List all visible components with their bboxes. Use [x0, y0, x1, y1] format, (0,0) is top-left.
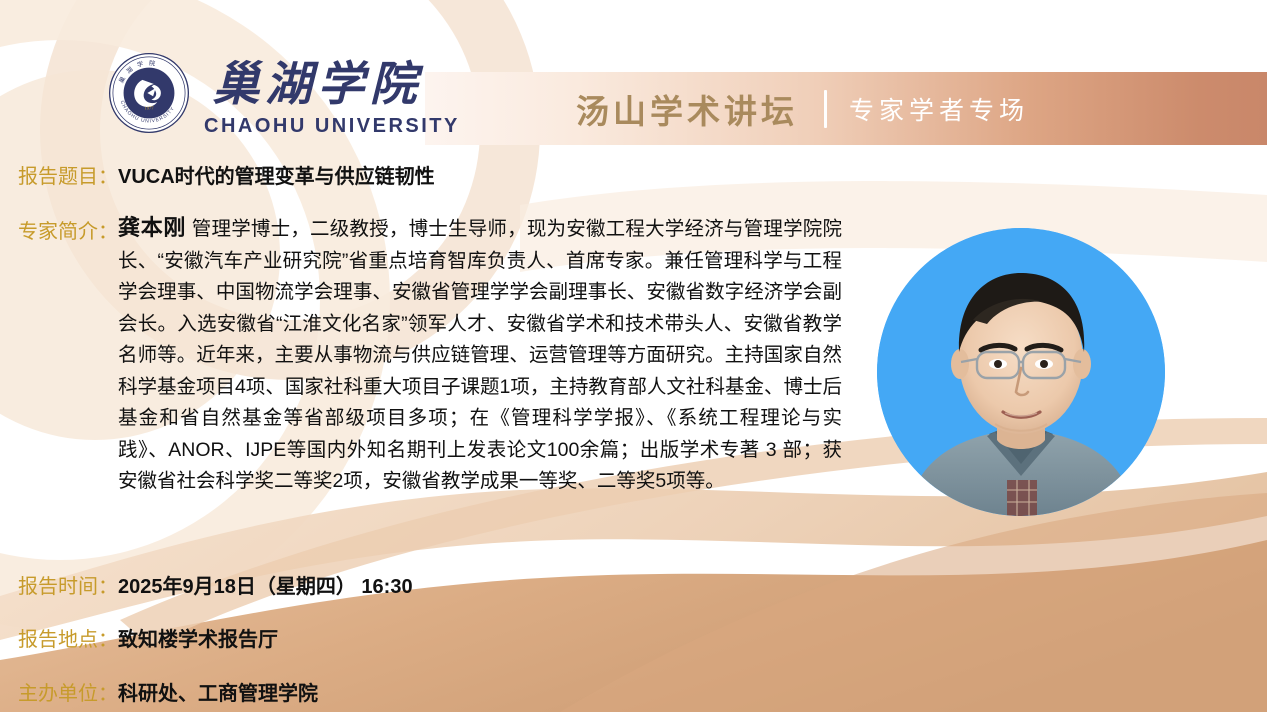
report-time-row: 报告时间： 2025年9月18日（星期四） 16:30: [18, 570, 413, 599]
banner-title: 汤山学术讲坛: [576, 85, 798, 133]
report-time-value: 2025年9月18日（星期四） 16:30: [118, 570, 413, 599]
university-name-cn: 巢湖学院: [204, 55, 474, 113]
university-name-en: CHAOHU UNIVERSITY: [204, 115, 460, 138]
report-place-value: 致知楼学术报告厅: [118, 623, 278, 652]
report-title-row: 报告题目： VUCA时代的管理变革与供应链韧性: [18, 160, 435, 189]
university-seal-icon: 1977 巢 湖 学 院 CHAOHU UNIVERSITY: [108, 52, 190, 134]
speaker-bio-text: 管理学博士，二级教授，博士生导师，现为安徽工程大学经济与管理学院院长、“安徽汽车…: [118, 218, 842, 492]
report-host-label: 主办单位：: [18, 677, 118, 706]
banner-subtitle: 专家学者专场: [849, 91, 1029, 127]
speaker-name: 龚本刚: [118, 215, 186, 240]
speaker-portrait-image: [877, 228, 1165, 516]
report-title-label: 报告题目：: [18, 160, 118, 189]
university-logo: 1977 巢 湖 学 院 CHAOHU UNIVERSITY 巢湖学院 CHAO…: [108, 52, 474, 138]
svg-text:巢湖学院: 巢湖学院: [213, 59, 424, 111]
report-place-label: 报告地点：: [18, 623, 118, 652]
seal-year: 1977: [145, 105, 155, 110]
speaker-bio-body: 龚本刚 管理学博士，二级教授，博士生导师，现为安徽工程大学经济与管理学院院长、“…: [118, 212, 842, 498]
banner-divider: [824, 90, 827, 128]
report-place-row: 报告地点： 致知楼学术报告厅: [18, 623, 278, 652]
report-host-value: 科研处、工商管理学院: [118, 677, 318, 706]
speaker-portrait: [877, 228, 1165, 516]
poster-canvas: 汤山学术讲坛 专家学者专场 1977 巢 湖 学 院 CHAOHU UNIVER…: [0, 0, 1267, 712]
speaker-bio-row: 专家简介： 龚本刚 管理学博士，二级教授，博士生导师，现为安徽工程大学经济与管理…: [18, 212, 878, 498]
report-time-label: 报告时间：: [18, 570, 118, 599]
report-host-row: 主办单位： 科研处、工商管理学院: [18, 677, 318, 706]
report-title-value: VUCA时代的管理变革与供应链韧性: [118, 160, 435, 189]
speaker-bio-label: 专家简介：: [18, 212, 118, 244]
event-banner: 汤山学术讲坛 专家学者专场: [425, 72, 1267, 145]
